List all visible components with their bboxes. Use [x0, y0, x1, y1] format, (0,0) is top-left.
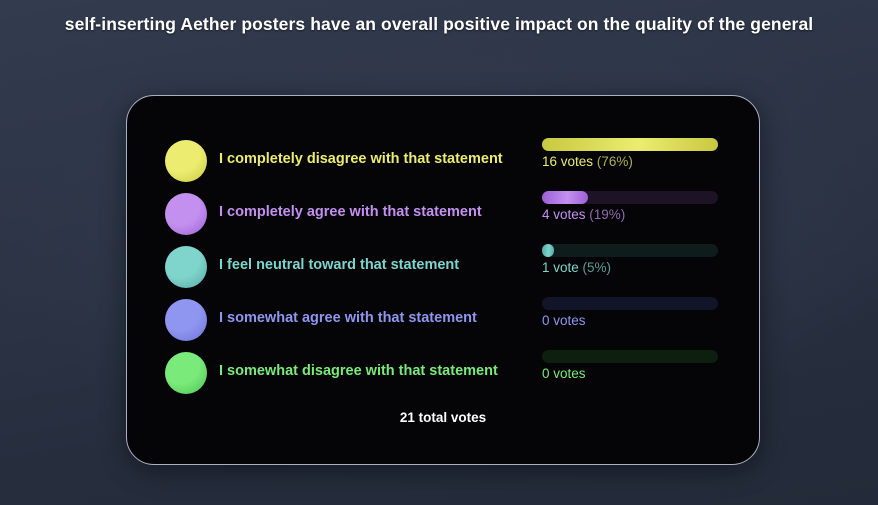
poll-option-row[interactable]: I completely agree with that statement4 …	[127, 183, 759, 236]
poll-option-row[interactable]: I completely disagree with that statemen…	[127, 130, 759, 183]
option-label: I completely agree with that statement	[219, 204, 482, 220]
option-vote-percent: (19%)	[589, 207, 625, 222]
option-vote-percent: (76%)	[597, 154, 633, 169]
option-color-dot	[165, 140, 207, 182]
poll-option-row[interactable]: I somewhat disagree with that statement0…	[127, 342, 759, 395]
poll-option-row[interactable]: I somewhat agree with that statement0 vo…	[127, 289, 759, 342]
option-bar-track	[542, 350, 718, 363]
option-vote-count: 16 votes	[542, 154, 593, 169]
option-vote-count: 0 votes	[542, 366, 586, 381]
option-vote-text: 1 vote (5%)	[542, 260, 611, 275]
option-vote-count: 1 vote	[542, 260, 579, 275]
option-label: I somewhat agree with that statement	[219, 310, 477, 326]
option-vote-text: 0 votes	[542, 366, 586, 381]
option-bar-track	[542, 244, 718, 257]
option-bar-track	[542, 191, 718, 204]
option-bar-track	[542, 138, 718, 151]
poll-option-row[interactable]: I feel neutral toward that statement1 vo…	[127, 236, 759, 289]
option-color-dot	[165, 299, 207, 341]
option-bar-fill	[542, 244, 554, 257]
poll-card: I completely disagree with that statemen…	[126, 95, 760, 465]
option-vote-text: 0 votes	[542, 313, 586, 328]
option-vote-count: 0 votes	[542, 313, 586, 328]
option-label: I feel neutral toward that statement	[219, 257, 459, 273]
option-vote-count: 4 votes	[542, 207, 586, 222]
option-bar-track	[542, 297, 718, 310]
option-label: I somewhat disagree with that statement	[219, 363, 498, 379]
option-vote-text: 16 votes (76%)	[542, 154, 633, 169]
option-vote-text: 4 votes (19%)	[542, 207, 625, 222]
total-votes-label: 21 total votes	[127, 410, 759, 425]
option-color-dot	[165, 246, 207, 288]
option-label: I completely disagree with that statemen…	[219, 151, 503, 167]
option-bar-fill	[542, 191, 588, 204]
option-color-dot	[165, 352, 207, 394]
option-vote-percent: (5%)	[583, 260, 612, 275]
option-color-dot	[165, 193, 207, 235]
option-bar-fill	[542, 138, 718, 151]
page-title: self-inserting Aether posters have an ov…	[59, 12, 819, 36]
